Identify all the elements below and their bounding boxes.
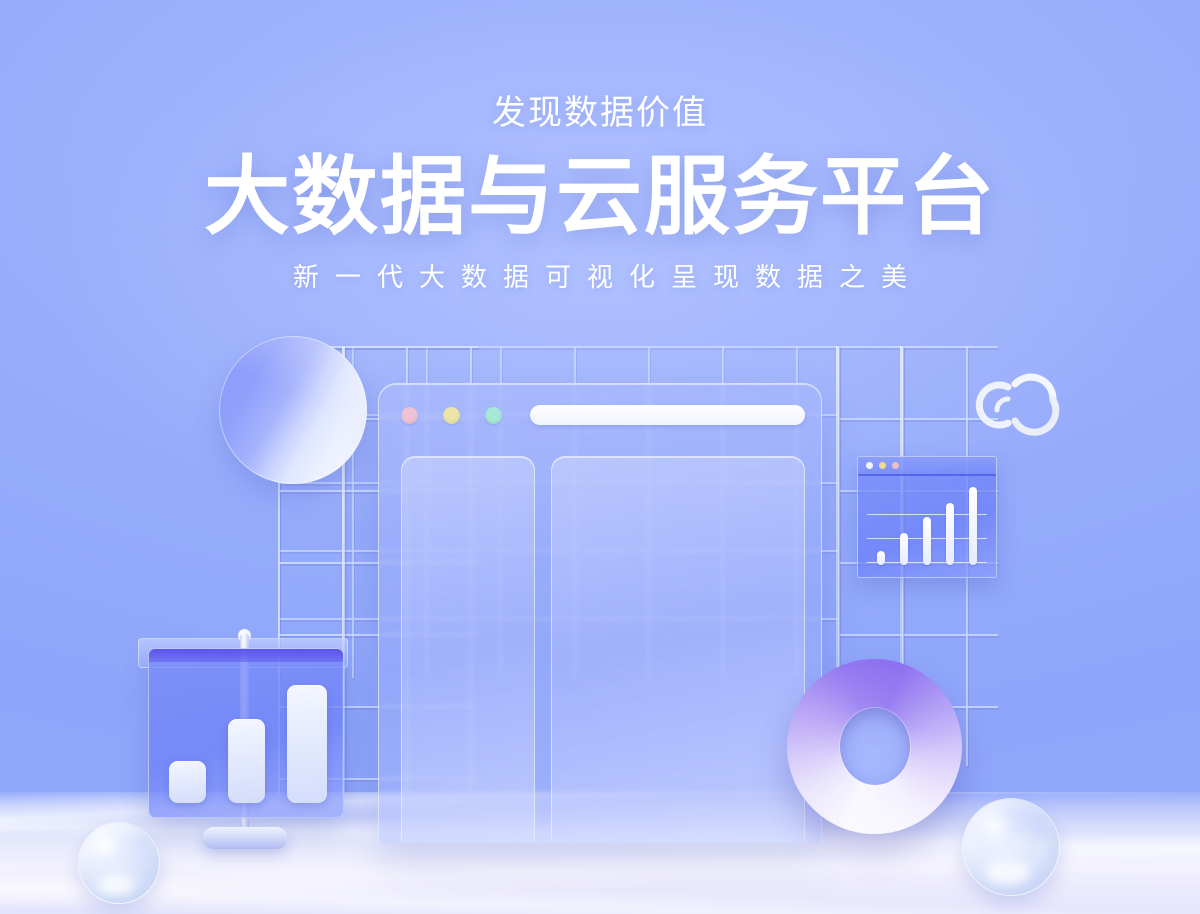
mini-bar-5 [961, 487, 984, 565]
left-bar-1 [169, 761, 206, 803]
mini-window-titlebar [858, 457, 996, 476]
mini-minimize-dot[interactable] [879, 462, 886, 469]
left-bars-group [169, 677, 327, 803]
mini-bars-group [870, 487, 984, 565]
hero-headline: 大数据与云服务平台 [0, 154, 1200, 242]
hero-eyebrow: 发现数据价值 [0, 96, 1200, 130]
glass-torus [787, 659, 962, 834]
mini-chart-window[interactable] [857, 456, 997, 578]
hero-stage: 发现数据价值 大数据与云服务平台 新一代大数据可视化呈现数据之美 [0, 0, 1200, 914]
glass-sphere-right [962, 798, 1060, 896]
minimize-dot[interactable] [443, 407, 460, 424]
cloud-icon [975, 358, 1071, 438]
glass-disc [219, 336, 367, 484]
mini-bar-1 [870, 551, 893, 565]
browser-titlebar [379, 384, 821, 446]
stand-base [203, 827, 287, 849]
mini-bar-2 [893, 533, 916, 565]
glass-sphere-left [78, 822, 160, 904]
left-bar-2 [228, 719, 265, 803]
browser-content [379, 446, 821, 843]
mini-bar-chart [858, 476, 996, 577]
maximize-dot[interactable] [485, 407, 502, 424]
mini-close-dot[interactable] [866, 462, 873, 469]
sidebar-pane[interactable] [401, 456, 535, 843]
mini-bar-3 [916, 517, 939, 565]
mini-bar-4 [938, 503, 961, 565]
close-dot[interactable] [401, 407, 418, 424]
mini-maximize-dot[interactable] [892, 462, 899, 469]
hero-copy: 发现数据价值 大数据与云服务平台 新一代大数据可视化呈现数据之美 [0, 0, 1200, 290]
hero-subline: 新一代大数据可视化呈现数据之美 [0, 264, 1200, 290]
address-bar-input[interactable] [530, 405, 805, 425]
left-bar-chart-panel[interactable] [148, 648, 344, 818]
content-pane[interactable] [551, 456, 805, 843]
left-bar-3 [287, 685, 327, 803]
browser-window-mockup[interactable] [378, 383, 822, 843]
left-panel-header [149, 649, 343, 662]
